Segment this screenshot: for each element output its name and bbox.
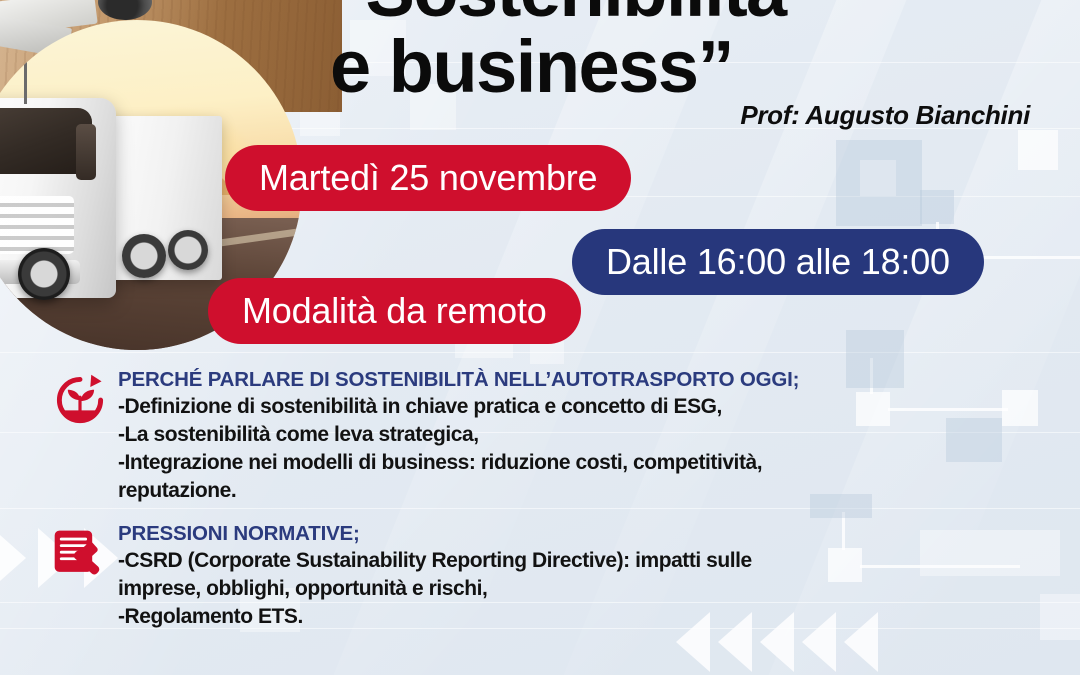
section-body: -Definizione di sostenibilità in chiave … — [118, 393, 1080, 506]
section-line: -La sostenibilità come leva strategica, — [118, 421, 1080, 449]
badge-date: Martedì 25 novembre — [225, 145, 631, 211]
badge-time: Dalle 16:00 alle 18:00 — [572, 229, 984, 295]
section-line: -CSRD (Corporate Sustainability Reportin… — [118, 547, 1080, 575]
section-body: -CSRD (Corporate Sustainability Reportin… — [118, 547, 1080, 631]
title-line-1: “Sostenibilità — [330, 0, 1030, 28]
section-heading: PERCHÉ PARLARE DI SOSTENIBILITÀ NELL’AUT… — [118, 366, 1080, 393]
section-line: -Integrazione nei modelli di business: r… — [118, 449, 1080, 477]
badge-mode: Modalità da remoto — [208, 278, 581, 344]
agenda-section: PERCHÉ PARLARE DI SOSTENIBILITÀ NELL’AUT… — [0, 366, 1080, 506]
sustainability-sprout-icon — [50, 370, 110, 432]
legal-gavel-document-icon — [50, 524, 110, 586]
agenda-section: PRESSIONI NORMATIVE; -CSRD (Corporate Su… — [0, 520, 1080, 631]
title-line-2: e business” — [330, 30, 1030, 104]
section-heading: PRESSIONI NORMATIVE; — [118, 520, 1080, 547]
section-line: imprese, obblighi, opportunità e rischi, — [118, 575, 1080, 603]
poster-canvas: “Sostenibilità e business” Prof: Augusto… — [0, 0, 1080, 675]
section-line: -Definizione di sostenibilità in chiave … — [118, 393, 1080, 421]
agenda-sections: PERCHÉ PARLARE DI SOSTENIBILITÀ NELL’AUT… — [0, 366, 1080, 637]
section-line: reputazione. — [118, 477, 1080, 505]
speaker-name: Prof: Augusto Bianchini — [330, 100, 1030, 131]
section-line: -Regolamento ETS. — [118, 603, 1080, 631]
page-title: “Sostenibilità e business” — [330, 0, 1030, 104]
